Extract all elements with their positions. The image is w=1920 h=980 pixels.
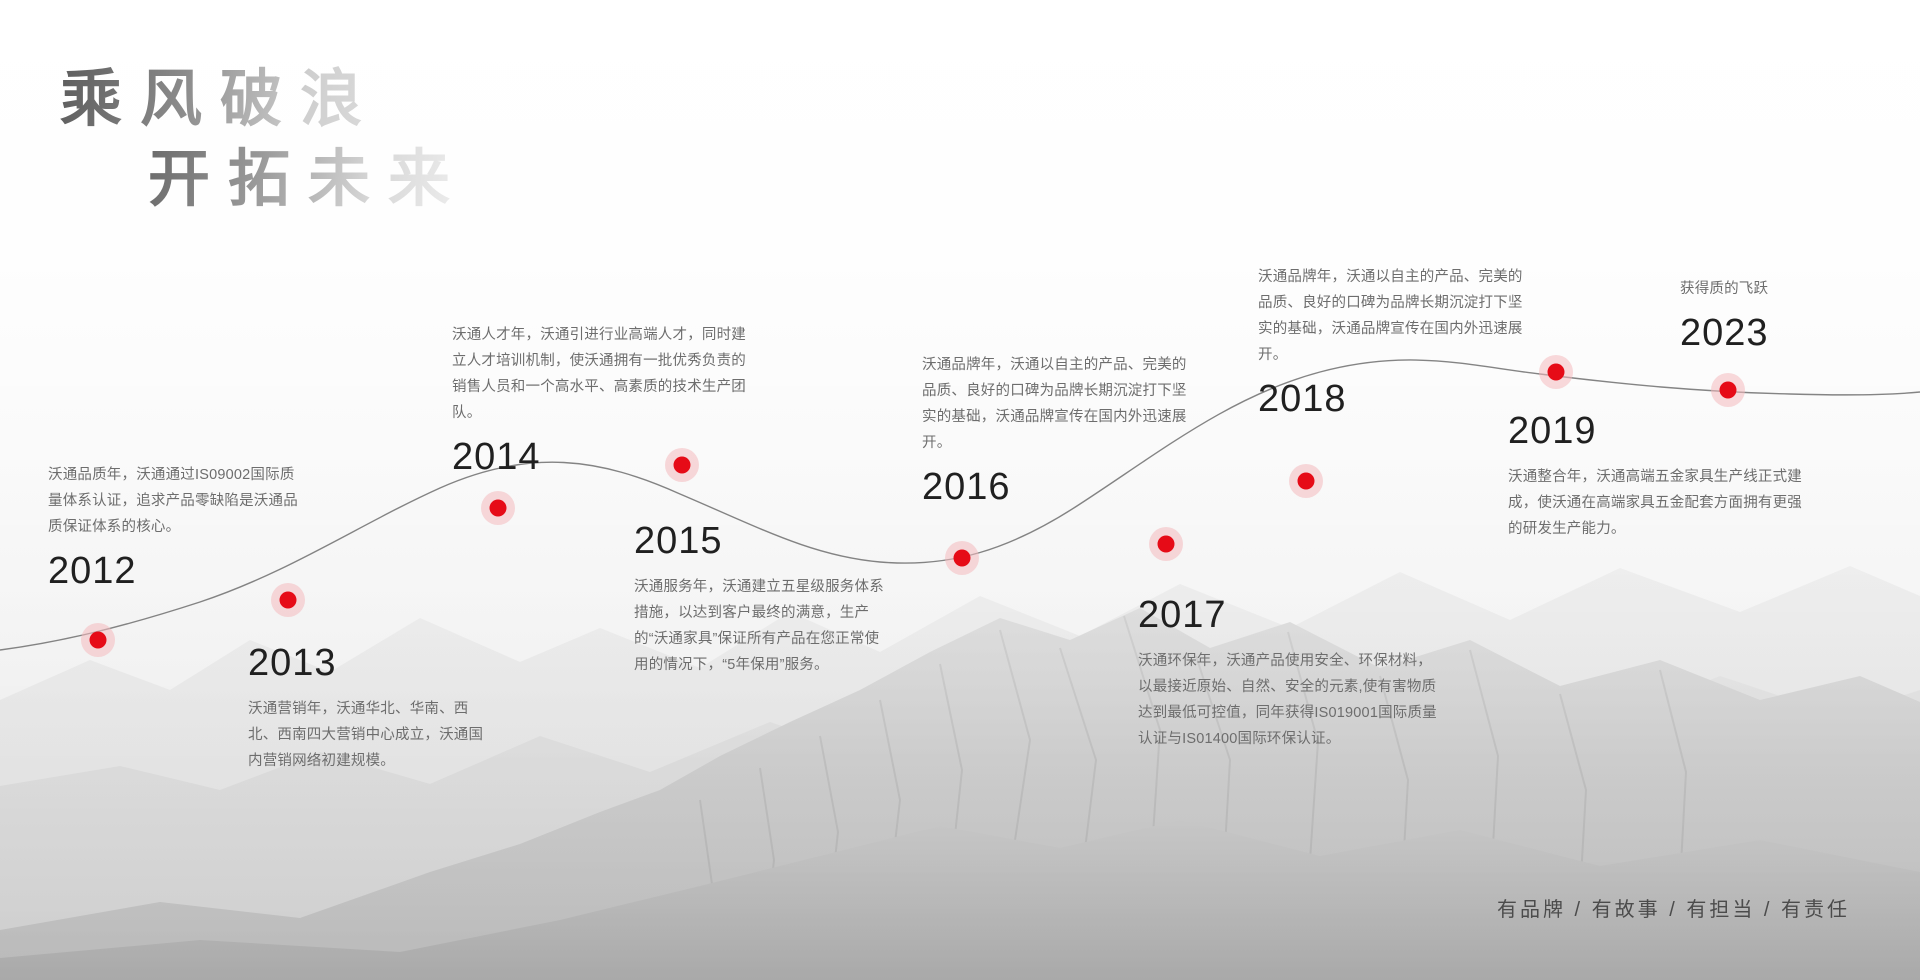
milestone-2015-description: 沃通服务年，沃通建立五星级服务体系措施，以达到客户最终的满意，生产的“沃通家具”… — [634, 574, 886, 678]
milestone-2015[interactable]: 2015 沃通服务年，沃通建立五星级服务体系措施，以达到客户最终的满意，生产的“… — [634, 518, 886, 678]
milestone-2014-description: 沃通人才年，沃通引进行业高端人才，同时建立人才培训机制，使沃通拥有一批优秀负责的… — [452, 322, 752, 426]
milestone-2012-description: 沃通品质年，沃通通过IS09002国际质量体系认证，追求产品零缺陷是沃通品质保证… — [48, 462, 306, 540]
title-line-2: 开拓未来 — [148, 142, 468, 218]
milestone-2019-year: 2019 — [1508, 408, 1808, 454]
milestone-2015-year: 2015 — [634, 518, 886, 564]
milestone-2016[interactable]: 沃通品牌年，沃通以自主的产品、完美的品质、良好的口碑为品牌长期沉淀打下坚实的基础… — [922, 352, 1190, 510]
milestone-2019[interactable]: 2019 沃通整合年，沃通高端五金家具生产线正式建成，使沃通在高端家具五金配套方… — [1508, 408, 1808, 542]
milestone-2017-year: 2017 — [1138, 592, 1438, 638]
milestone-2019-description: 沃通整合年，沃通高端五金家具生产线正式建成，使沃通在高端家具五金配套方面拥有更强… — [1508, 464, 1808, 542]
milestone-2013-description: 沃通营销年，沃通华北、华南、西北、西南四大营销中心成立，沃通国内营销网络初建规模… — [248, 696, 496, 774]
milestone-2016-year: 2016 — [922, 464, 1190, 510]
milestone-2017[interactable]: 2017 沃通环保年，沃通产品使用安全、环保材料，以最接近原始、自然、安全的元素… — [1138, 592, 1438, 752]
milestone-2023-description: 获得质的飞跃 — [1680, 276, 1900, 302]
milestone-2014-year: 2014 — [452, 434, 752, 480]
milestone-2016-description: 沃通品牌年，沃通以自主的产品、完美的品质、良好的口碑为品牌长期沉淀打下坚实的基础… — [922, 352, 1190, 456]
milestone-2014[interactable]: 沃通人才年，沃通引进行业高端人才，同时建立人才培训机制，使沃通拥有一批优秀负责的… — [452, 322, 752, 480]
timeline-infographic: 乘风破浪 开拓未来 — [0, 0, 1920, 980]
milestone-2013[interactable]: 2013 沃通营销年，沃通华北、华南、西北、西南四大营销中心成立，沃通国内营销网… — [248, 640, 496, 774]
milestone-2012[interactable]: 沃通品质年，沃通通过IS09002国际质量体系认证，追求产品零缺陷是沃通品质保证… — [48, 462, 306, 594]
footer-tagline: 有品牌 / 有故事 / 有担当 / 有责任 — [1497, 893, 1850, 922]
milestone-2018-description: 沃通品牌年，沃通以自主的产品、完美的品质、良好的口碑为品牌长期沉淀打下坚实的基础… — [1258, 264, 1526, 368]
title-line-1: 乘风破浪 — [60, 62, 468, 138]
milestone-2023-year: 2023 — [1680, 310, 1900, 356]
milestone-2013-year: 2013 — [248, 640, 496, 686]
milestone-2018-year: 2018 — [1258, 376, 1526, 422]
milestone-2012-year: 2012 — [48, 548, 306, 594]
milestone-2023[interactable]: 获得质的飞跃 2023 — [1680, 276, 1900, 356]
milestone-2018[interactable]: 沃通品牌年，沃通以自主的产品、完美的品质、良好的口碑为品牌长期沉淀打下坚实的基础… — [1258, 264, 1526, 422]
milestone-2017-description: 沃通环保年，沃通产品使用安全、环保材料，以最接近原始、自然、安全的元素,使有害物… — [1138, 648, 1438, 752]
page-title: 乘风破浪 开拓未来 — [60, 62, 468, 218]
